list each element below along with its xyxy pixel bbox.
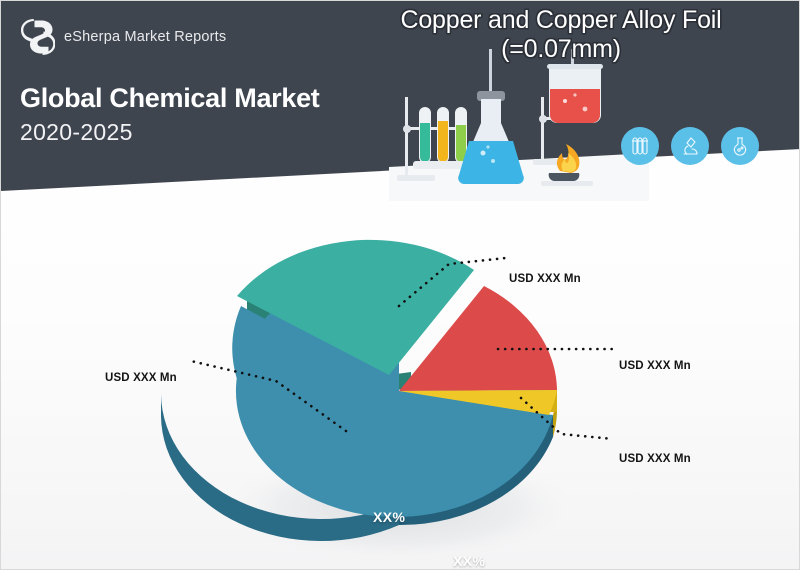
report-title: Copper and Copper Alloy Foil (=0.07mm) <box>331 6 791 64</box>
report-period: 2020-2025 <box>20 119 133 146</box>
test-tubes-icon[interactable] <box>621 127 659 165</box>
slice-percent-red: XX% <box>453 553 485 569</box>
chemistry-lab-illustration <box>389 49 649 201</box>
flask-icon[interactable] <box>721 127 759 165</box>
erlenmeyer-flask <box>458 49 524 184</box>
brand-logo-text: eSherpa Market Reports <box>64 29 226 45</box>
report-title-line-2: (=0.07mm) <box>331 35 791 64</box>
beaker <box>547 64 603 123</box>
report-title-line-1: Copper and Copper Alloy Foil <box>331 6 791 35</box>
callout-label-yellow: USD XXX Mn <box>619 453 691 465</box>
callout-label-teal: USD XXX Mn <box>509 273 581 285</box>
slice-percent-teal: XX% <box>373 509 405 525</box>
esherpa-s-logo-icon <box>21 19 55 55</box>
microscope-icon[interactable] <box>671 127 709 165</box>
page-title: Global Chemical Market <box>20 83 320 114</box>
header-icon-row <box>621 127 759 165</box>
brand-logo[interactable]: eSherpa Market Reports <box>21 19 226 55</box>
callout-label-blue: USD XXX Mn <box>105 372 177 384</box>
market-report-infographic: eSherpa Market Reports Global Chemical M… <box>0 0 800 570</box>
callout-label-red: USD XXX Mn <box>619 360 691 372</box>
